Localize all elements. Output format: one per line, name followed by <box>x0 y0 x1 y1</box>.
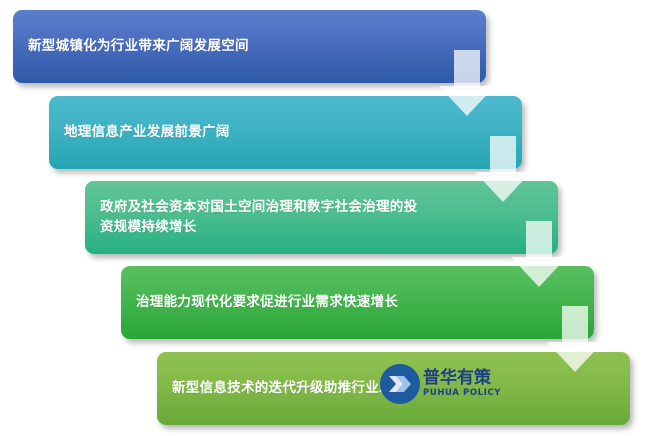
flow-step-2[interactable]: 地理信息产业发展前景广阔 <box>49 96 522 169</box>
flow-step-5-label: 新型信息技术的迭代升级助推行业发展 <box>157 379 630 399</box>
diagram-canvas: 新型城镇化为行业带来广阔发展空间 地理信息产业发展前景广阔 政府及社会资本对国土… <box>0 0 645 436</box>
flow-step-1[interactable]: 新型城镇化为行业带来广阔发展空间 <box>13 10 486 83</box>
flow-step-4[interactable]: 治理能力现代化要求促进行业需求快速增长 <box>121 266 594 339</box>
flow-step-5[interactable]: 新型信息技术的迭代升级助推行业发展 <box>157 352 630 425</box>
flow-step-4-label: 治理能力现代化要求促进行业需求快速增长 <box>121 293 594 313</box>
flow-step-3[interactable]: 政府及社会资本对国土空间治理和数字社会治理的投 资规模持续增长 <box>85 181 558 254</box>
flow-step-3-label: 政府及社会资本对国土空间治理和数字社会治理的投 资规模持续增长 <box>85 198 558 237</box>
flow-step-1-label: 新型城镇化为行业带来广阔发展空间 <box>13 37 486 57</box>
flow-step-2-label: 地理信息产业发展前景广阔 <box>49 123 522 143</box>
